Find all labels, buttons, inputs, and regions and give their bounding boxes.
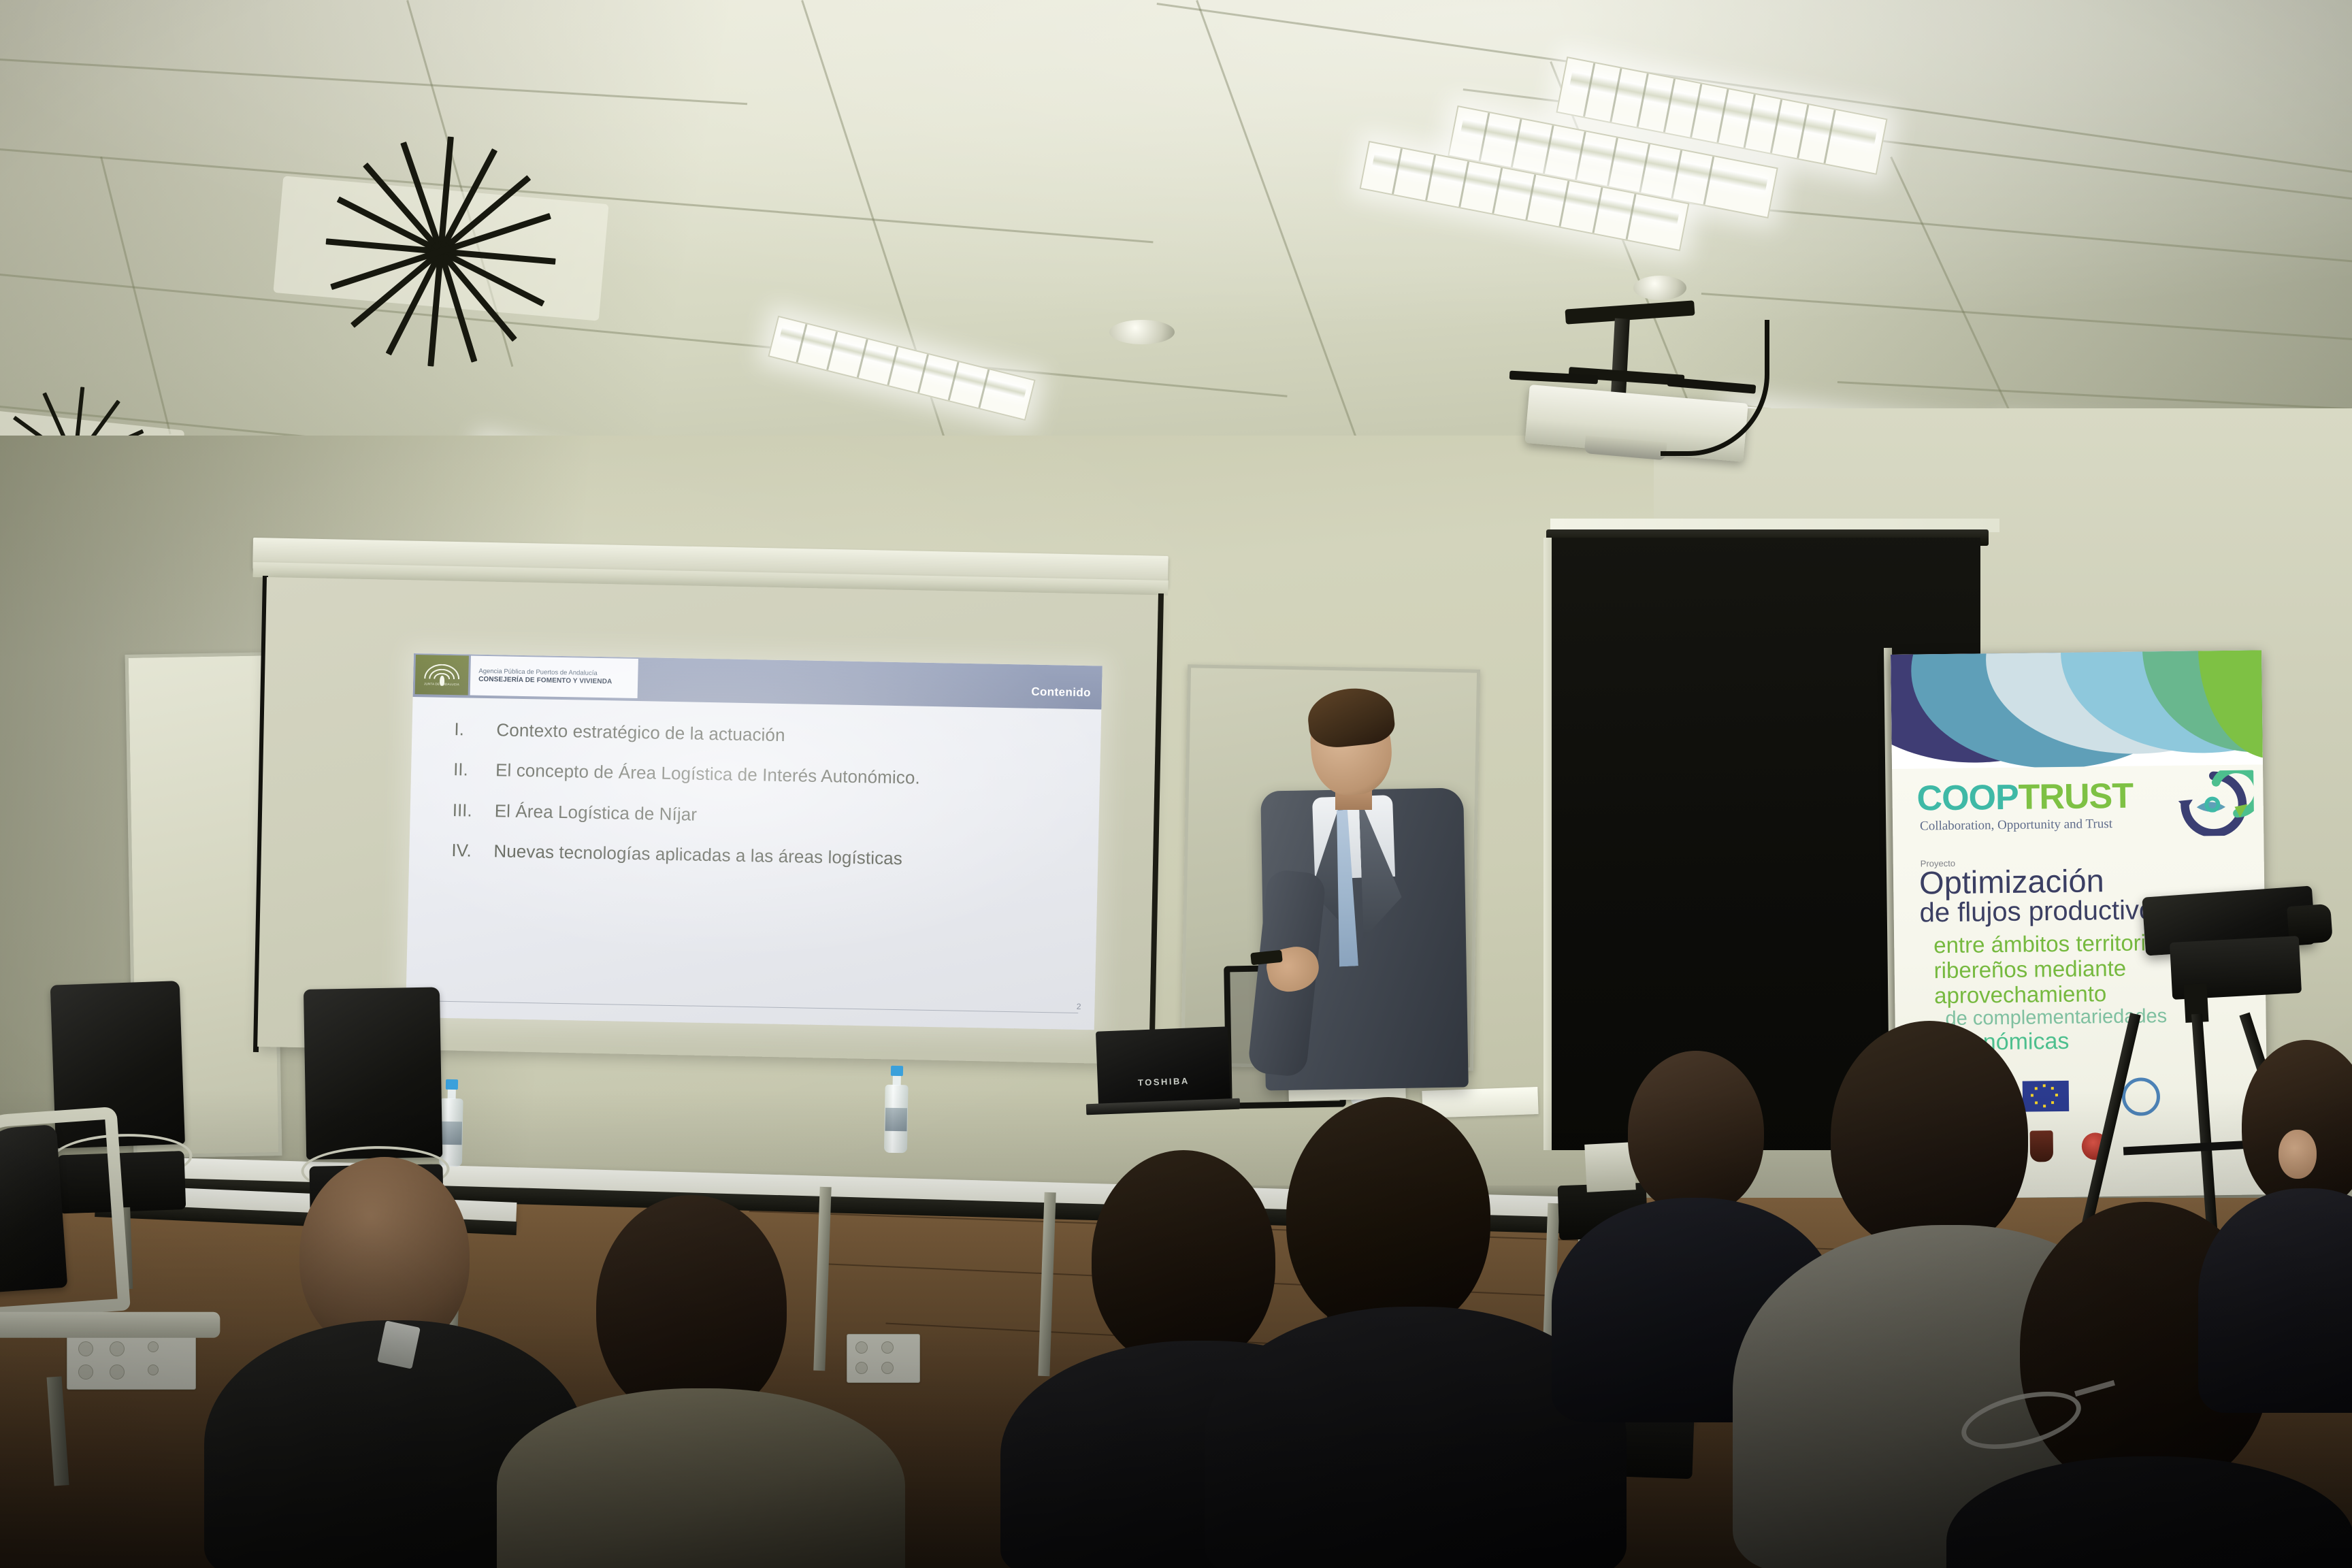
slide-item-numeral: II. (453, 758, 496, 781)
slide-item-numeral: IV. (451, 839, 494, 862)
laptop[interactable]: TOSHIBA (1096, 1026, 1230, 1106)
slide-item: IV. Nuevas tecnologías aplicadas a las á… (451, 839, 1067, 873)
slide-item: I. Contexto estratégico de la actuación (454, 718, 1070, 752)
slide-title: Contenido (1031, 685, 1091, 700)
cooptrust-mark-icon (2173, 770, 2254, 836)
agency-logo-block: Agencia Pública de Puertos de Andalucía … (470, 656, 638, 698)
partner-ring-logo-icon (2122, 1077, 2161, 1116)
smoke-detector (1109, 320, 1175, 344)
slide-item-text: El Área Logística de Níjar (494, 800, 697, 826)
partner-shield-logo-icon (2030, 1130, 2054, 1162)
slide-item-text: El concepto de Área Logística de Interés… (495, 759, 920, 789)
banner-tagline: Collaboration, Opportunity and Trust (1920, 817, 2112, 834)
projected-slide: JUNTA DE ANDALUCIA Agencia Pública de Pu… (406, 653, 1102, 1030)
bottle-label (885, 1108, 907, 1132)
slide-item: II. El concepto de Área Logística de Int… (453, 758, 1069, 792)
laptop-brand-label: TOSHIBA (1138, 1075, 1190, 1088)
banner-wave-graphic (1891, 650, 2263, 769)
water-bottle[interactable] (884, 1066, 909, 1154)
bottle-cap (891, 1066, 903, 1076)
face (2278, 1130, 2317, 1179)
scene-root: JUNTA DE ANDALUCIA Agencia Pública de Pu… (0, 0, 2352, 1568)
slide-item-numeral: I. (454, 718, 497, 741)
slide-item-text: Nuevas tecnologías aplicadas a las áreas… (493, 840, 902, 870)
brand-part-2: TRUST (2018, 777, 2133, 817)
wall-power-socket[interactable] (847, 1334, 920, 1383)
european-union-flag-icon (2023, 1081, 2070, 1112)
slide-item: III. El Área Logística de Níjar (452, 799, 1068, 833)
junta-de-andalucia-logo: JUNTA DE ANDALUCIA (415, 655, 469, 695)
slide-content-list: I. Contexto estratégico de la actuación … (406, 697, 1102, 1030)
slide-page-number: 2 (1077, 1002, 1081, 1011)
air-diffuser (301, 193, 581, 304)
smoke-detector (1633, 276, 1686, 300)
banner-brand: COOPTRUST (1916, 779, 2133, 817)
slide-item-numeral: III. (452, 799, 495, 822)
slide-item-text: Contexto estratégico de la actuación (496, 719, 785, 747)
office-chair[interactable] (0, 1109, 196, 1477)
brand-part-1: COOP (1916, 778, 2019, 819)
